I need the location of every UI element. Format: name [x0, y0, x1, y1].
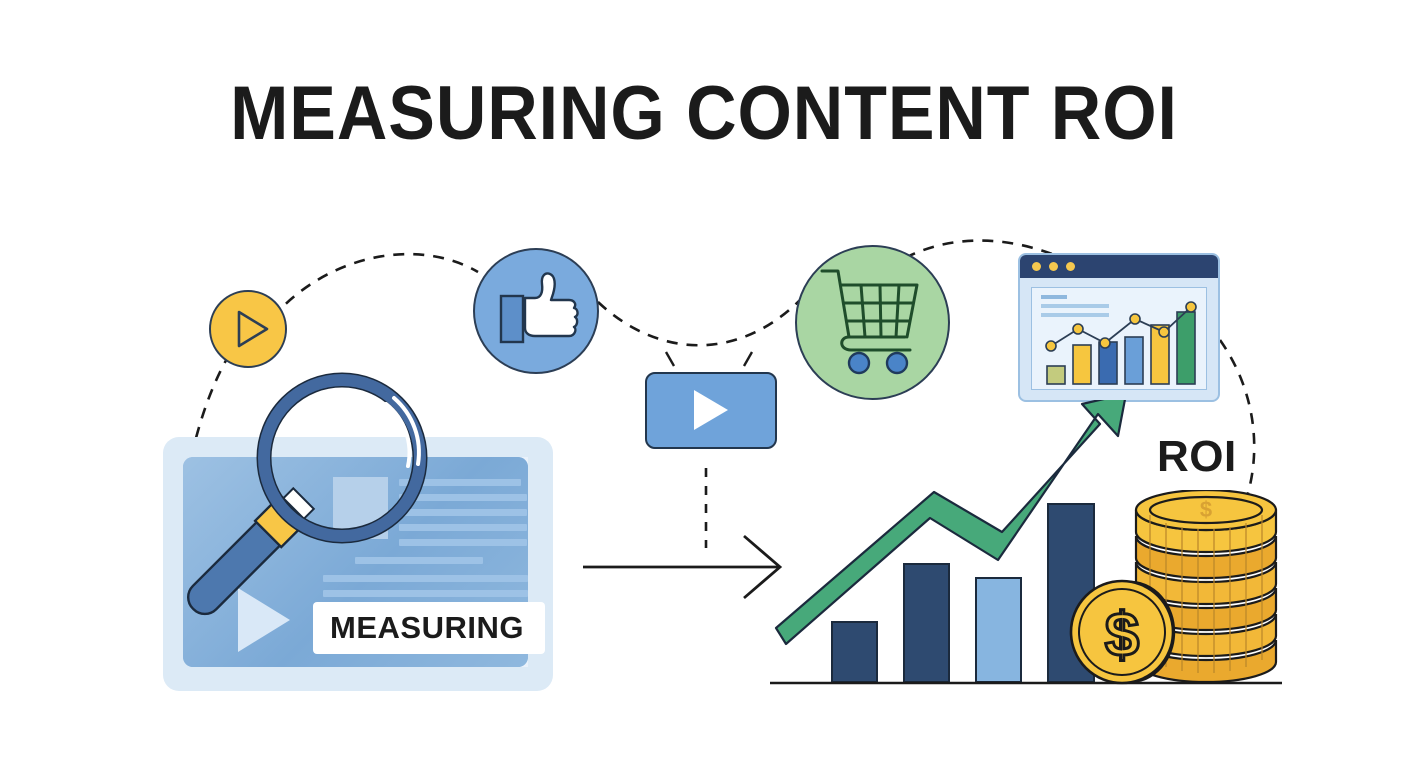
dashed-curve-play-to-like [272, 254, 478, 318]
coin-dollar-symbol: $ [1200, 497, 1212, 522]
sparkle-tick-left [666, 352, 674, 366]
window-dot-icon [1032, 262, 1041, 271]
shopping-cart-glyph [795, 245, 950, 400]
window-dot-icon [1049, 262, 1058, 271]
thumbs-up-glyph [473, 248, 599, 374]
roi-label: ROI [1157, 432, 1237, 482]
dollar-symbol: $ [1105, 601, 1139, 670]
dashed-curve-like-to-cart [598, 300, 800, 345]
dollar-coin-icon: $ [1068, 575, 1183, 690]
flow-arrow [583, 536, 780, 598]
infographic-canvas: MEASURING CONTENT ROI MEASURI [0, 0, 1408, 768]
video-play-triangle-icon [694, 390, 728, 430]
play-triangle-icon [209, 290, 287, 368]
magnifier-icon [140, 360, 440, 660]
sparkle-tick-right [744, 352, 752, 366]
dashboard-mini-chart [1031, 287, 1207, 390]
window-dot-icon [1066, 262, 1075, 271]
